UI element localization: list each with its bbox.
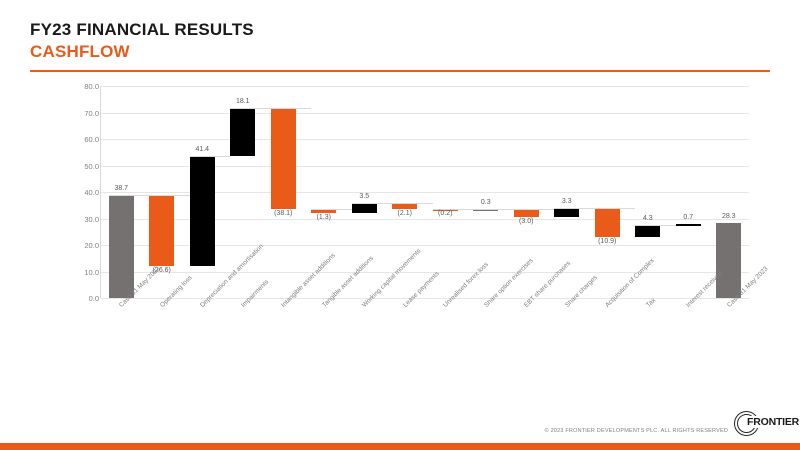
bar-value-label: (38.1) xyxy=(263,210,304,217)
bar-value-label: (3.0) xyxy=(506,218,547,225)
waterfall-connector xyxy=(109,195,150,196)
chart-bar xyxy=(676,224,701,227)
chart-bar xyxy=(109,195,134,298)
waterfall-connector xyxy=(271,108,312,109)
waterfall-connector xyxy=(352,203,393,204)
waterfall-connector xyxy=(190,156,231,157)
waterfall-connector xyxy=(554,208,595,209)
chart-bar xyxy=(190,156,215,266)
footer-accent-bar xyxy=(0,443,800,450)
y-axis-tick-label: 10.0 xyxy=(59,268,99,277)
waterfall-connector xyxy=(595,208,636,209)
slide-header: FY23 FINANCIAL RESULTS CASHFLOW xyxy=(30,20,770,72)
chart-bar xyxy=(635,225,660,236)
x-axis-category-label: Share charges xyxy=(564,274,599,309)
chart-plot-area: 0.010.020.030.040.050.060.070.080.0 38.7… xyxy=(100,86,749,298)
title-divider xyxy=(30,70,770,72)
y-axis-tick-label: 20.0 xyxy=(59,241,99,250)
slide-canvas: FY23 FINANCIAL RESULTS CASHFLOW 0.010.02… xyxy=(0,0,800,450)
chart-bar xyxy=(230,108,255,156)
bar-value-label: 41.4 xyxy=(182,146,223,153)
x-axis-category-label: Impairments xyxy=(240,279,270,309)
waterfall-connector xyxy=(514,209,555,210)
x-axis-category-label: Lease payments xyxy=(402,270,441,309)
gridline xyxy=(101,272,749,273)
chart-bar xyxy=(716,223,741,298)
chart-bar xyxy=(554,208,579,217)
y-axis-tick-label: 30.0 xyxy=(59,215,99,224)
bar-value-label: 4.3 xyxy=(628,215,669,222)
page-subtitle: CASHFLOW xyxy=(30,42,770,62)
x-axis-category-label: Unrealised forex loss xyxy=(442,261,490,309)
y-axis-tick-label: 50.0 xyxy=(59,162,99,171)
gridline xyxy=(101,113,749,114)
bar-value-label: (1.3) xyxy=(304,214,345,221)
waterfall-connector xyxy=(473,209,514,210)
gridline xyxy=(101,86,749,87)
bar-value-label: 3.3 xyxy=(547,198,588,205)
bar-value-label: 3.5 xyxy=(344,193,385,200)
x-axis-category-label: Operating loss xyxy=(159,274,194,309)
logo-wordmark: FRONTIER xyxy=(745,416,799,428)
chart-bar xyxy=(352,203,377,212)
bar-value-label: 28.3 xyxy=(709,213,750,220)
y-axis-tick-label: 80.0 xyxy=(59,82,99,91)
chart-bar xyxy=(514,209,539,217)
gridline xyxy=(101,139,749,140)
waterfall-connector xyxy=(392,203,433,204)
bar-value-label: (10.9) xyxy=(587,238,628,245)
chart-bar xyxy=(271,108,296,209)
bar-value-label: 0.3 xyxy=(466,199,507,206)
bar-value-label: (2.1) xyxy=(385,210,426,217)
chart-bar xyxy=(595,208,620,237)
waterfall-connector xyxy=(635,225,676,226)
footer-copyright: © 2023 FRONTIER DEVELOPMENTS PLC. ALL RI… xyxy=(545,428,728,434)
y-axis-tick-label: 0.0 xyxy=(59,294,99,303)
bar-value-label: 0.7 xyxy=(668,214,709,221)
frontier-logo: FRONTIER xyxy=(734,410,792,436)
bar-value-label: 38.7 xyxy=(101,185,142,192)
waterfall-connector xyxy=(311,209,352,210)
waterfall-chart: 0.010.020.030.040.050.060.070.080.0 38.7… xyxy=(58,86,748,311)
bar-value-label: (0.2) xyxy=(425,210,466,217)
waterfall-connector xyxy=(149,195,190,196)
chart-bar xyxy=(149,195,174,265)
bar-value-label: 18.1 xyxy=(223,98,264,105)
y-axis-tick-label: 70.0 xyxy=(59,109,99,118)
y-axis-tick-label: 60.0 xyxy=(59,135,99,144)
page-title: FY23 FINANCIAL RESULTS xyxy=(30,20,770,40)
y-axis-tick-label: 40.0 xyxy=(59,188,99,197)
waterfall-connector xyxy=(230,108,271,109)
